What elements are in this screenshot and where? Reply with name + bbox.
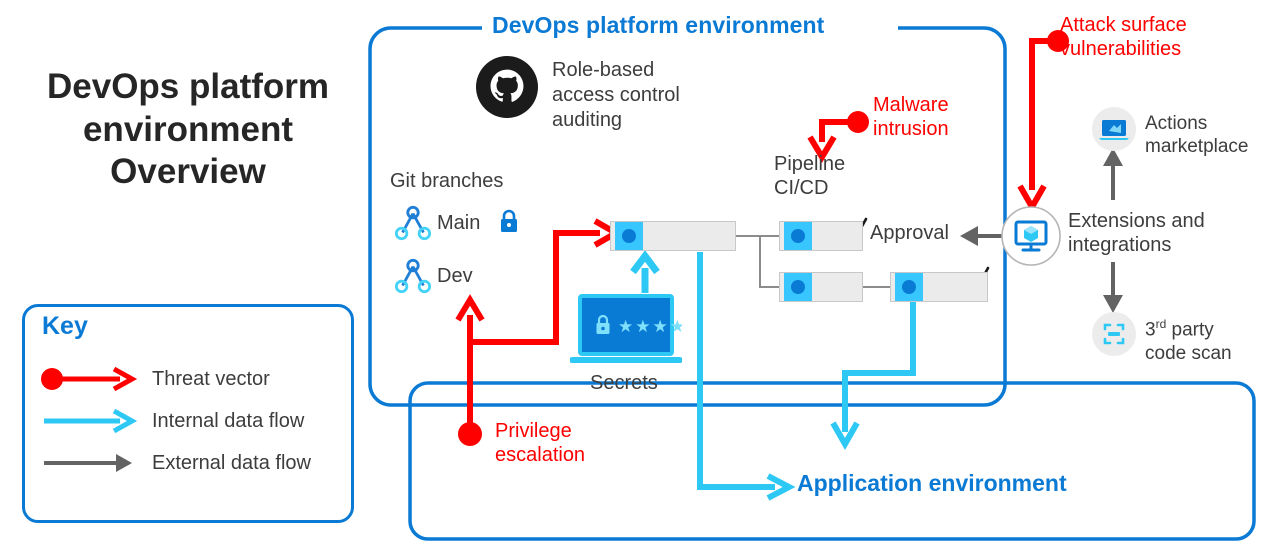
stage-status-icon xyxy=(784,273,812,301)
actions-marketplace-label: Actionsmarketplace xyxy=(1145,112,1275,158)
flow-extensions-to-scan xyxy=(1103,262,1123,313)
list-item: External data flow xyxy=(36,442,336,484)
stage-status-icon xyxy=(615,222,643,250)
rbac-auditing-label: Role-basedaccess controlauditing xyxy=(552,58,732,132)
git-branches-label: Git branches xyxy=(390,170,503,193)
key-item-label: Internal data flow xyxy=(152,410,304,433)
third-party-code-scan-label: 3rd partycode scan xyxy=(1145,317,1265,365)
stage-status-icon xyxy=(895,273,923,301)
secrets-laptop-icon: ★★★★★ xyxy=(570,294,682,370)
flow-deploy-to-app-env xyxy=(833,302,913,444)
stage-status-icon xyxy=(784,222,812,250)
flow-pipeline-to-app-env xyxy=(700,252,789,498)
list-item: Threat vector xyxy=(36,358,336,400)
monitor-package-icon[interactable] xyxy=(1000,205,1062,272)
key-legend-list: Threat vector Internal data flow Externa… xyxy=(36,358,336,484)
pipeline-stage-source[interactable] xyxy=(610,221,736,251)
internal-data-flow-icon xyxy=(36,406,144,436)
secrets-mask: ★★★★★ xyxy=(618,317,682,336)
extensions-integrations-label: Extensions andintegrations xyxy=(1068,209,1218,258)
branch-main-label: Main xyxy=(437,212,480,235)
branch-dev-label: Dev xyxy=(437,265,473,288)
pipeline-cicd-label: PipelineCI/CD xyxy=(774,152,904,200)
laptop-actions-icon[interactable] xyxy=(1092,107,1136,156)
flow-secrets-to-pipeline xyxy=(633,256,657,293)
branch-icon[interactable] xyxy=(394,257,432,300)
key-item-label: Threat vector xyxy=(152,368,270,391)
threat-attack-surface-label: Attack surfacevulnerabilities xyxy=(1060,14,1240,61)
threat-vector-icon xyxy=(36,364,144,394)
pipeline-stage-approval[interactable] xyxy=(779,221,863,251)
devops-environment-label: DevOps platform environment xyxy=(492,12,824,39)
pipeline-stage-deploy[interactable] xyxy=(890,272,988,302)
key-item-label: External data flow xyxy=(152,452,311,475)
secrets-label: Secrets xyxy=(590,372,658,395)
pipeline-stage-build[interactable] xyxy=(779,272,863,302)
external-data-flow-icon xyxy=(36,448,144,478)
approval-label: Approval xyxy=(870,222,949,245)
application-environment-label: Application environment xyxy=(797,470,1067,497)
list-item: Internal data flow xyxy=(36,400,336,442)
branch-icon[interactable] xyxy=(394,204,432,247)
code-scan-icon[interactable] xyxy=(1092,312,1136,361)
github-octocat-icon xyxy=(476,56,538,123)
threat-privilege-escalation-label: Privilegeescalation xyxy=(495,420,625,467)
threat-malware-arrow xyxy=(810,111,869,157)
threat-malware-label: Malwareintrusion xyxy=(873,94,983,141)
page-title: DevOps platformenvironmentOverview xyxy=(18,66,358,194)
key-title: Key xyxy=(42,312,88,341)
lock-icon xyxy=(497,208,521,239)
